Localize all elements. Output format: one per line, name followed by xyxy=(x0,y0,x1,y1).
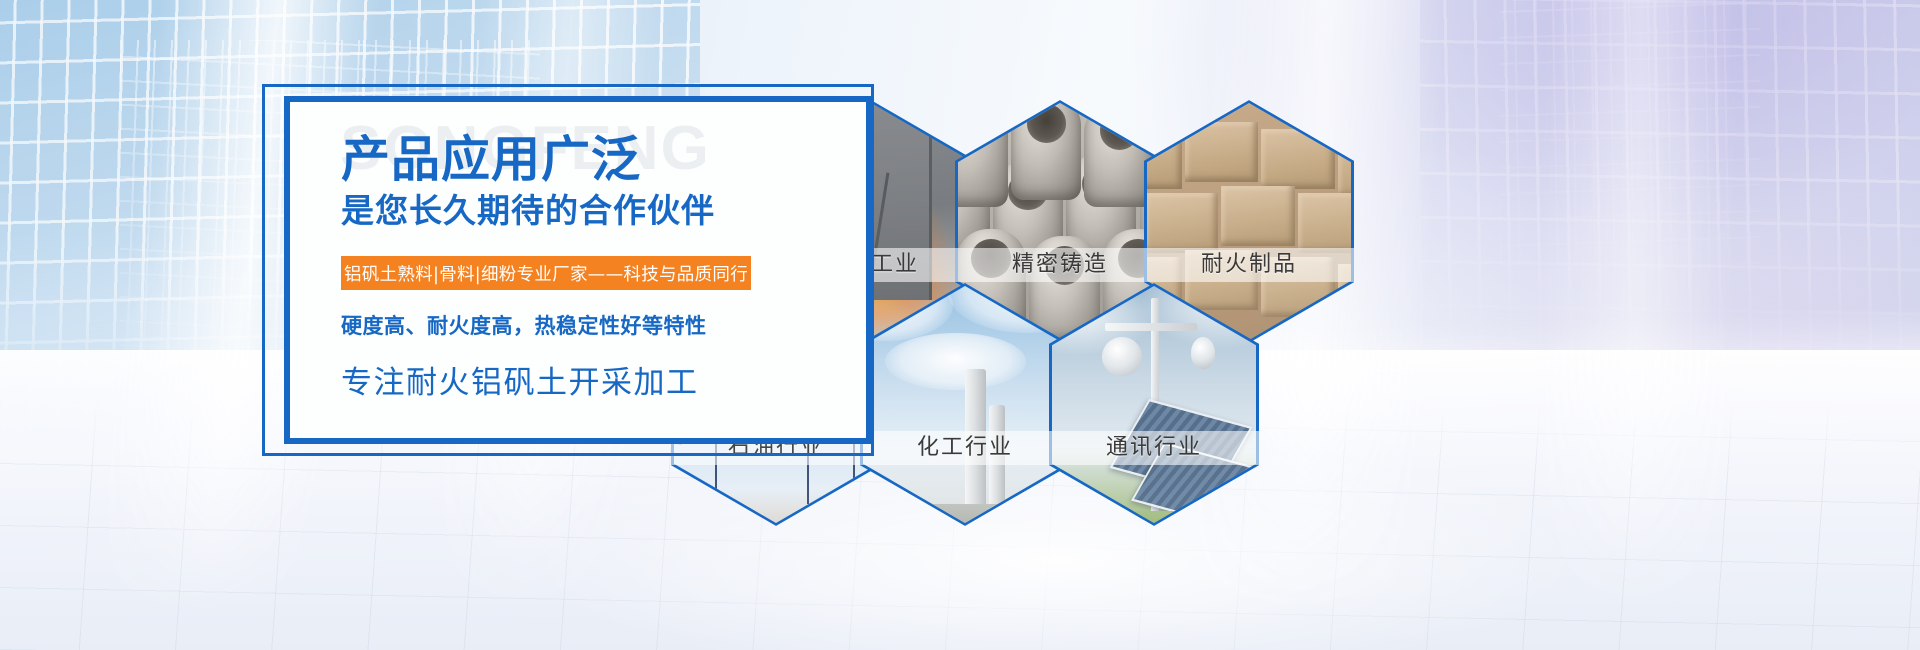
hex-label: 化工行业 xyxy=(860,431,1070,465)
headline-primary: 产品应用广泛 xyxy=(341,136,641,185)
tagline-text: 铝矾土熟料|骨料|细粉专业厂家——科技与品质同行 xyxy=(344,261,748,286)
business-focus: 专注耐火铝矾土开采加工 xyxy=(341,357,699,402)
hex-label: 精密铸造 xyxy=(955,248,1165,282)
promo-banner: 炼铝工业 精密铸造 xyxy=(0,0,1920,650)
hex-label: 通讯行业 xyxy=(1049,431,1259,465)
panel-content: SONGFENG 产品应用广泛 是您长久期待的合作伙伴 铝矾土熟料|骨料|细粉专… xyxy=(290,102,866,438)
headline-secondary: 是您长久期待的合作伙伴 xyxy=(341,194,715,227)
hex-label: 耐火制品 xyxy=(1144,248,1354,282)
tagline-banner: 铝矾土熟料|骨料|细粉专业厂家——科技与品质同行 xyxy=(341,256,751,290)
product-features: 硬度高、耐火度高，热稳定性好等特性 xyxy=(341,310,707,340)
